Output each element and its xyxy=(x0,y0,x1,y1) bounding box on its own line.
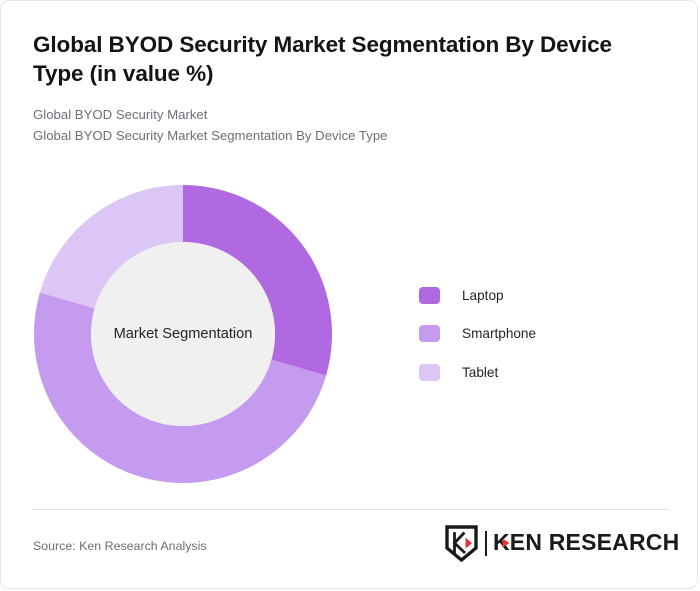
ken-research-shield-icon xyxy=(445,525,478,562)
donut-hole xyxy=(91,242,275,426)
legend-label: Tablet xyxy=(462,365,498,380)
source-note: Source: Ken Research Analysis xyxy=(33,539,207,553)
donut-chart-svg xyxy=(34,185,332,483)
legend-swatch-icon xyxy=(419,325,440,342)
subtitle-segmentation: Global BYOD Security Market Segmentation… xyxy=(33,126,653,146)
legend-item-tablet[interactable]: Tablet xyxy=(419,362,536,382)
donut-chart: Market Segmentation xyxy=(34,185,332,483)
legend-label: Laptop xyxy=(462,288,504,303)
chart-card: Global BYOD Security Market Segmentation… xyxy=(0,0,698,589)
brand-divider xyxy=(485,531,487,556)
page-title: Global BYOD Security Market Segmentation… xyxy=(33,31,653,88)
legend-item-smartphone[interactable]: Smartphone xyxy=(419,324,536,344)
legend-label: Smartphone xyxy=(462,326,536,341)
ken-research-wordmark: KEN RESEARCH xyxy=(493,529,698,557)
plot-area: Market Segmentation Laptop Smartphone Ta… xyxy=(1,161,698,501)
footer-divider xyxy=(32,509,668,510)
subtitle-market: Global BYOD Security Market xyxy=(33,105,653,125)
brand-logo: KEN RESEARCH xyxy=(445,522,698,564)
legend-swatch-icon xyxy=(419,287,440,304)
subtitle-block: Global BYOD Security Market Global BYOD … xyxy=(33,105,653,146)
brand-wordmark-text: KEN RESEARCH xyxy=(493,529,679,555)
legend-item-laptop[interactable]: Laptop xyxy=(419,285,536,305)
chart-legend: Laptop Smartphone Tablet xyxy=(419,285,536,401)
chart-header: Global BYOD Security Market Segmentation… xyxy=(33,31,653,146)
legend-swatch-icon xyxy=(419,364,440,381)
